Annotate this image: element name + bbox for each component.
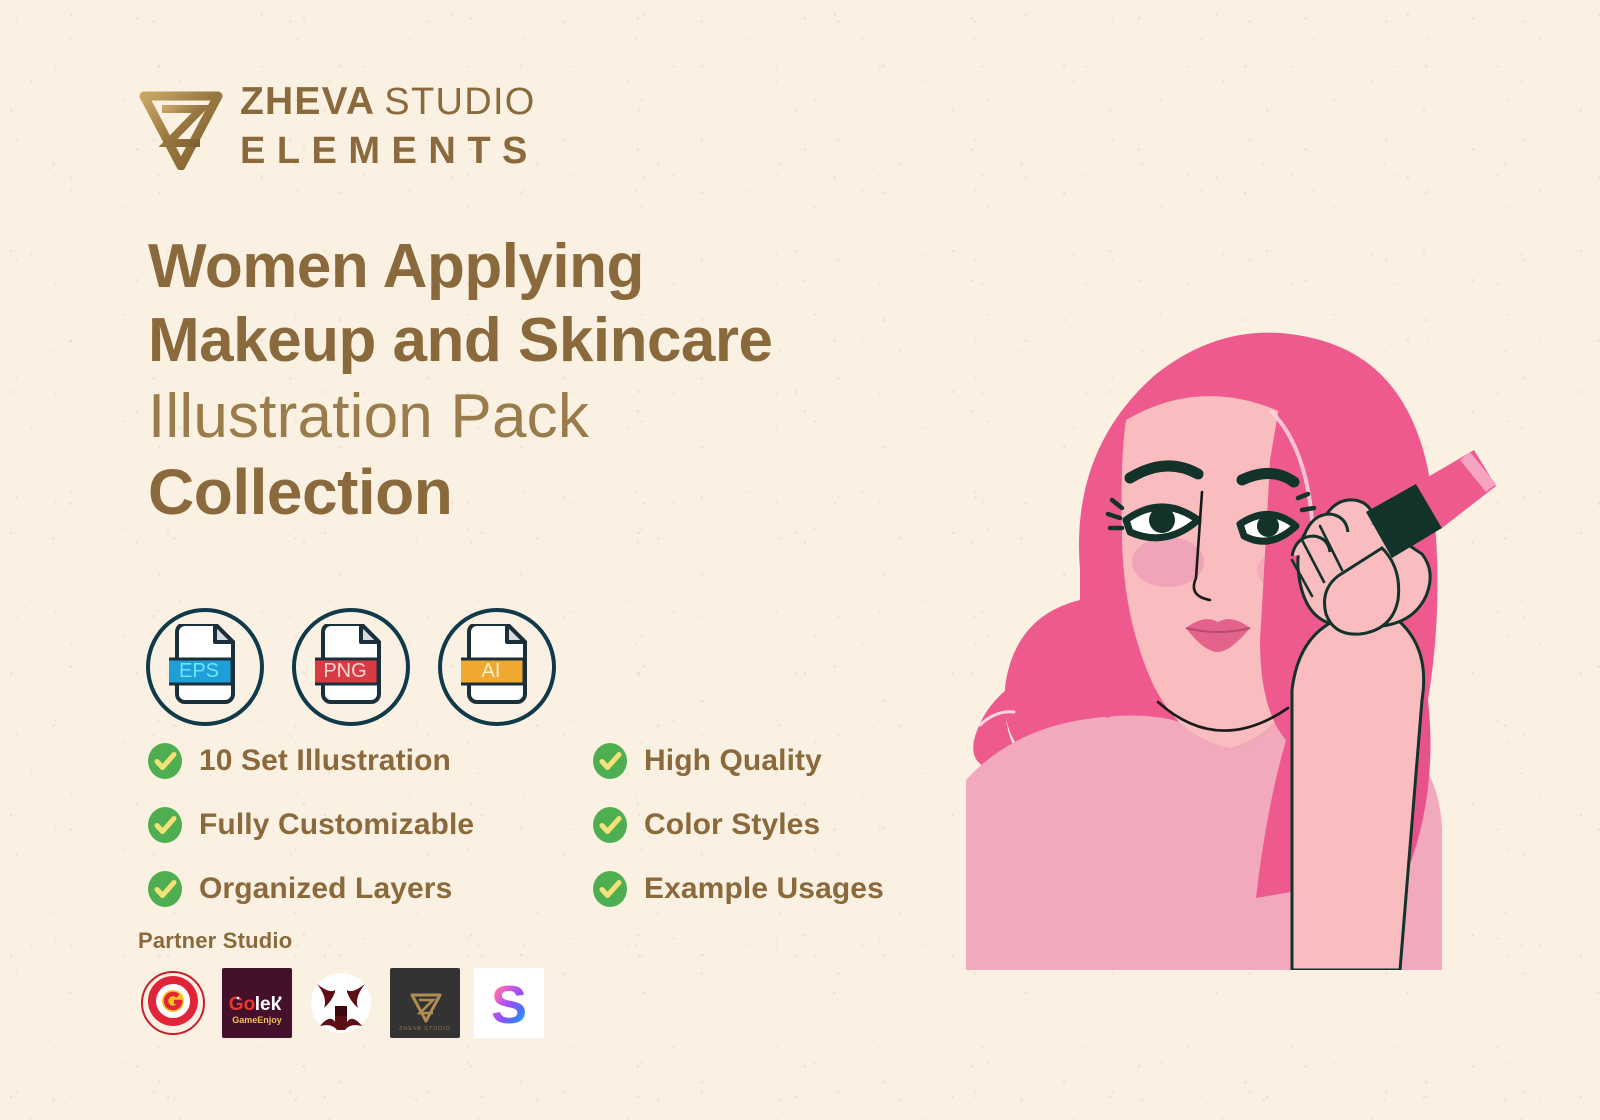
headline-line-2: Makeup and Skincare bbox=[148, 310, 773, 372]
partner-logo-golek-text-go: Go bbox=[229, 994, 255, 1015]
feature-label: Fully Customizable bbox=[199, 808, 474, 842]
partner-logo-h[interactable] bbox=[306, 968, 376, 1038]
partner-logo-golek-text-lek: lek bbox=[255, 994, 282, 1015]
check-circle-icon bbox=[591, 870, 629, 908]
feature-item: Example Usages bbox=[591, 870, 884, 908]
file-format-badges: EPS PNG AI bbox=[146, 608, 556, 726]
eye-left-pupil bbox=[1149, 507, 1175, 533]
partner-logo-s[interactable]: S bbox=[474, 968, 544, 1038]
page-title: Women Applying Makeup and Skincare Illus… bbox=[148, 236, 773, 524]
eye-right-pupil bbox=[1257, 515, 1279, 537]
headline-line-3: Illustration Pack bbox=[148, 386, 773, 448]
partner-logo-s-text: S bbox=[491, 975, 527, 1035]
partner-logo-zheva-text: ZHEVA STUDIO bbox=[399, 1026, 451, 1032]
logo-word-studio: STUDIO bbox=[384, 83, 535, 121]
format-badge-eps: EPS bbox=[146, 608, 264, 726]
partner-logo-zheva[interactable]: ZHEVA STUDIO bbox=[390, 968, 460, 1038]
check-circle-icon bbox=[146, 806, 184, 844]
check-circle-icon bbox=[591, 806, 629, 844]
format-badge-ai: AI bbox=[438, 608, 556, 726]
partner-logo-golek[interactable]: Go lek GameEnjoy bbox=[222, 968, 292, 1038]
format-label-png: PNG bbox=[323, 660, 366, 682]
feature-item: 10 Set Illustration bbox=[146, 742, 591, 780]
feature-label: Organized Layers bbox=[199, 872, 452, 906]
feature-list: 10 Set Illustration High Quality Fully C… bbox=[146, 742, 884, 908]
feature-label: High Quality bbox=[644, 744, 822, 778]
feature-label: 10 Set Illustration bbox=[199, 744, 451, 778]
format-badge-png: PNG bbox=[292, 608, 410, 726]
diamond-z-icon bbox=[138, 82, 224, 170]
blush-left bbox=[1132, 537, 1204, 587]
logo-word-zheva: ZHEVA bbox=[240, 82, 375, 121]
partner-logo-golek-subtext: GameEnjoy bbox=[232, 1015, 282, 1025]
feature-label: Color Styles bbox=[644, 808, 820, 842]
brand-logo: ZHEVA STUDIO ELEMENTS bbox=[138, 82, 539, 170]
check-circle-icon bbox=[146, 742, 184, 780]
format-label-eps: EPS bbox=[179, 660, 219, 682]
file-ai-icon: AI bbox=[461, 624, 533, 710]
check-circle-icon bbox=[591, 742, 629, 780]
check-circle-icon bbox=[146, 870, 184, 908]
feature-item: Color Styles bbox=[591, 806, 884, 844]
feature-label: Example Usages bbox=[644, 872, 884, 906]
poster-canvas: ZHEVA STUDIO ELEMENTS Women Applying Mak… bbox=[0, 0, 1600, 1120]
feature-item: Organized Layers bbox=[146, 870, 591, 908]
partner-logo-target-g[interactable] bbox=[138, 968, 208, 1038]
feature-item: High Quality bbox=[591, 742, 884, 780]
headline-line-1: Women Applying bbox=[148, 236, 773, 298]
partner-logo-row: Go lek GameEnjoy bbox=[138, 968, 544, 1038]
partner-studio-title: Partner Studio bbox=[138, 928, 544, 954]
file-eps-icon: EPS bbox=[169, 624, 241, 710]
file-png-icon: PNG bbox=[315, 624, 387, 710]
feature-item: Fully Customizable bbox=[146, 806, 591, 844]
headline-line-4: Collection bbox=[148, 460, 773, 524]
format-label-ai: AI bbox=[482, 660, 501, 682]
logo-word-elements: ELEMENTS bbox=[240, 132, 539, 170]
woman-applying-lipstick-illustration bbox=[930, 270, 1590, 970]
partner-studio-section: Partner Studio Go lek GameE bbox=[138, 928, 544, 1038]
arm bbox=[1292, 622, 1424, 970]
